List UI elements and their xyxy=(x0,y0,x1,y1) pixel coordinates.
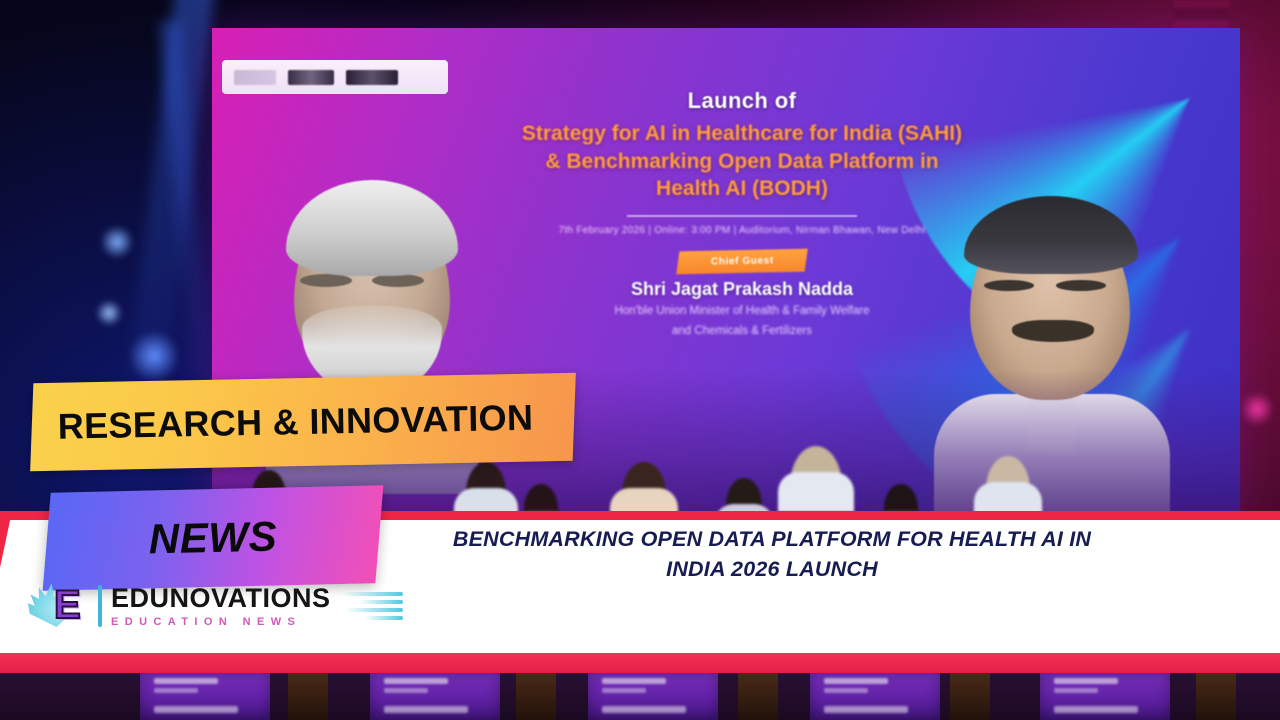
podium-panel xyxy=(370,673,500,720)
screen-logo-strip xyxy=(222,60,448,94)
podium-panel xyxy=(1040,673,1170,720)
podium-gap xyxy=(516,673,556,720)
news-thumbnail-stage: Launch of Strategy for AI in Healthcare … xyxy=(0,0,1280,720)
podium-gap xyxy=(738,673,778,720)
news-banner[interactable]: NEWS xyxy=(43,485,384,591)
screen-title-line-2: & Benchmarking Open Data Platform in xyxy=(462,148,1022,176)
stage-light-glow xyxy=(128,330,180,382)
headline-line-1: BENCHMARKING OPEN DATA PLATFORM FOR HEAL… xyxy=(392,525,1152,555)
screen-launch-label: Launch of xyxy=(462,88,1022,114)
podium-gap xyxy=(1196,673,1236,720)
guest-role-line-1: Hon'ble Union Minister of Health & Famil… xyxy=(462,303,1022,320)
category-banner[interactable]: RESEARCH & INNOVATION xyxy=(30,373,576,471)
logo-letter-e: E xyxy=(54,585,81,625)
guest-name: Shri Jagat Prakash Nadda xyxy=(462,279,1022,300)
screen-title-line-1: Strategy for AI in Healthcare for India … xyxy=(462,120,1022,148)
portrait-right-moustache xyxy=(1012,320,1094,342)
chief-guest-badge: Chief Guest xyxy=(676,249,808,275)
podium-panel xyxy=(140,673,270,720)
chief-guest-badge-label: Chief Guest xyxy=(710,256,773,268)
logo-mark: E xyxy=(28,579,92,633)
portrait-left-hair xyxy=(286,180,458,276)
bottom-accent-bar xyxy=(0,653,1280,673)
org-logo-3-icon xyxy=(346,70,398,85)
headline-line-2: INDIA 2026 LAUNCH xyxy=(392,555,1152,585)
logo-text-block: EDUNOVATIONS EDUCATION NEWS xyxy=(111,585,331,628)
screen-title-line-3: Health AI (BODH) xyxy=(462,175,1022,203)
brand-tagline: EDUCATION NEWS xyxy=(111,617,331,628)
stage-light-glow xyxy=(1240,392,1274,426)
stage-light-glow xyxy=(100,225,134,259)
portrait-left-brow xyxy=(300,274,352,287)
speed-lines-icon xyxy=(337,584,403,628)
news-banner-label: NEWS xyxy=(148,513,277,564)
category-banner-label: RESEARCH & INNOVATION xyxy=(31,397,533,449)
portrait-right-brow xyxy=(984,280,1034,291)
podium-panel xyxy=(588,673,718,720)
org-logo-2-icon xyxy=(288,70,334,85)
logo-divider xyxy=(98,585,102,627)
portrait-right-hair xyxy=(964,196,1138,274)
podium-strip xyxy=(0,673,1280,720)
podium-gap xyxy=(950,673,990,720)
screen-divider xyxy=(627,215,857,217)
org-logo-1-icon xyxy=(234,70,276,85)
portrait-right-brow xyxy=(1056,280,1106,291)
screen-event-meta: 7th February 2026 | Online: 3:00 PM | Au… xyxy=(462,225,1022,236)
stage-light-glow xyxy=(96,300,122,326)
podium-gap xyxy=(288,673,328,720)
brand-name: EDUNOVATIONS xyxy=(111,585,331,612)
guest-role-line-2: and Chemicals & Fertilizers xyxy=(462,323,1022,340)
headline: BENCHMARKING OPEN DATA PLATFORM FOR HEAL… xyxy=(392,525,1152,584)
brand-logo[interactable]: E EDUNOVATIONS EDUCATION NEWS xyxy=(28,578,403,634)
screen-text-block: Launch of Strategy for AI in Healthcare … xyxy=(462,88,1022,340)
podium-panel xyxy=(810,673,940,720)
